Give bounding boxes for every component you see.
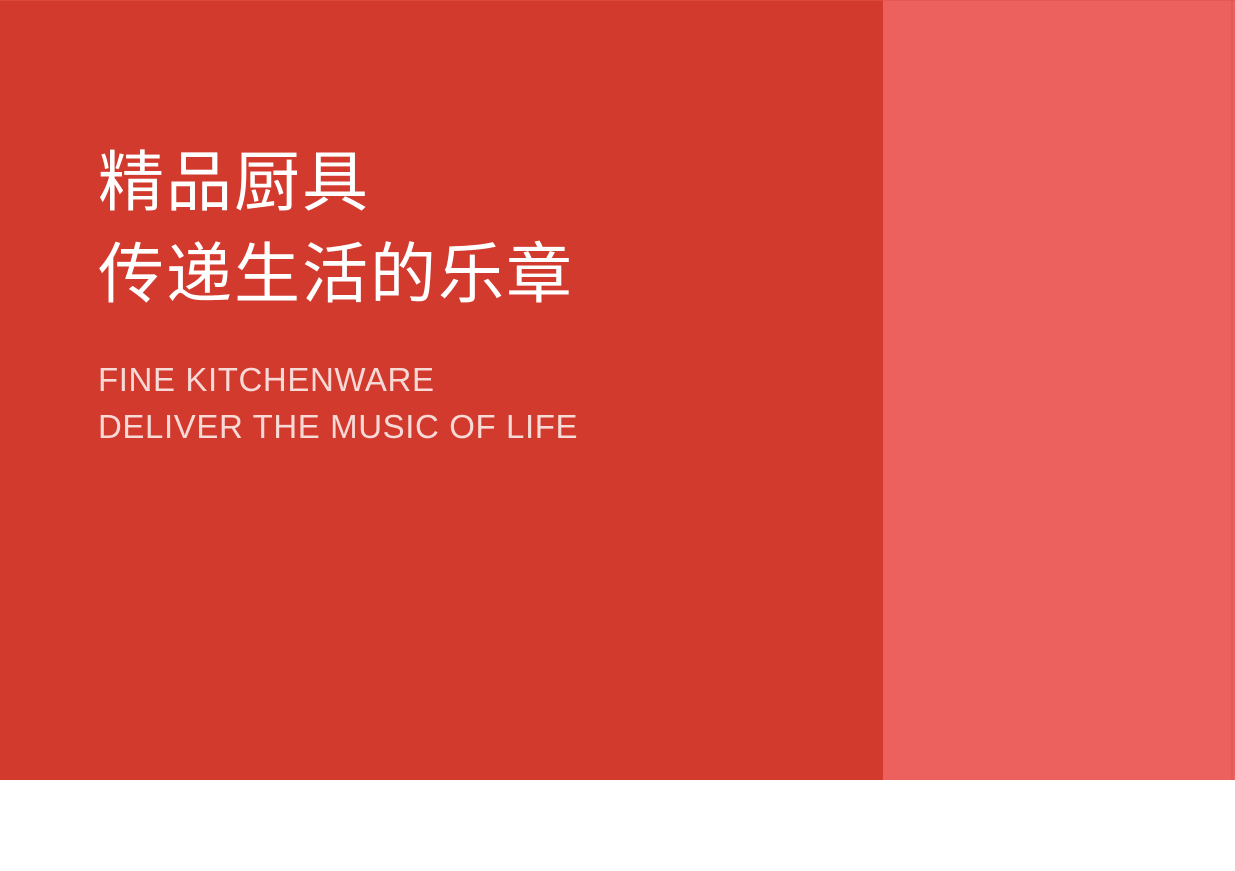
right-accent-panel [883, 0, 1235, 780]
top-edge-hairline [0, 0, 1235, 1]
headline-line-1: 精品厨具 [98, 136, 838, 230]
subhead-line-2: DELIVER THE MUSIC OF LIFE [98, 403, 838, 450]
subhead-line-1: FINE KITCHENWARE [98, 356, 838, 403]
right-edge-hairline [1231, 0, 1233, 780]
brand-cover-slide: 精品厨具 传递生活的乐章 FINE KITCHENWARE DELIVER TH… [0, 0, 1235, 871]
headline-copy-block: 精品厨具 传递生活的乐章 FINE KITCHENWARE DELIVER TH… [98, 136, 838, 450]
subhead-group: FINE KITCHENWARE DELIVER THE MUSIC OF LI… [98, 356, 838, 450]
headline-line-2: 传递生活的乐章 [98, 228, 838, 322]
